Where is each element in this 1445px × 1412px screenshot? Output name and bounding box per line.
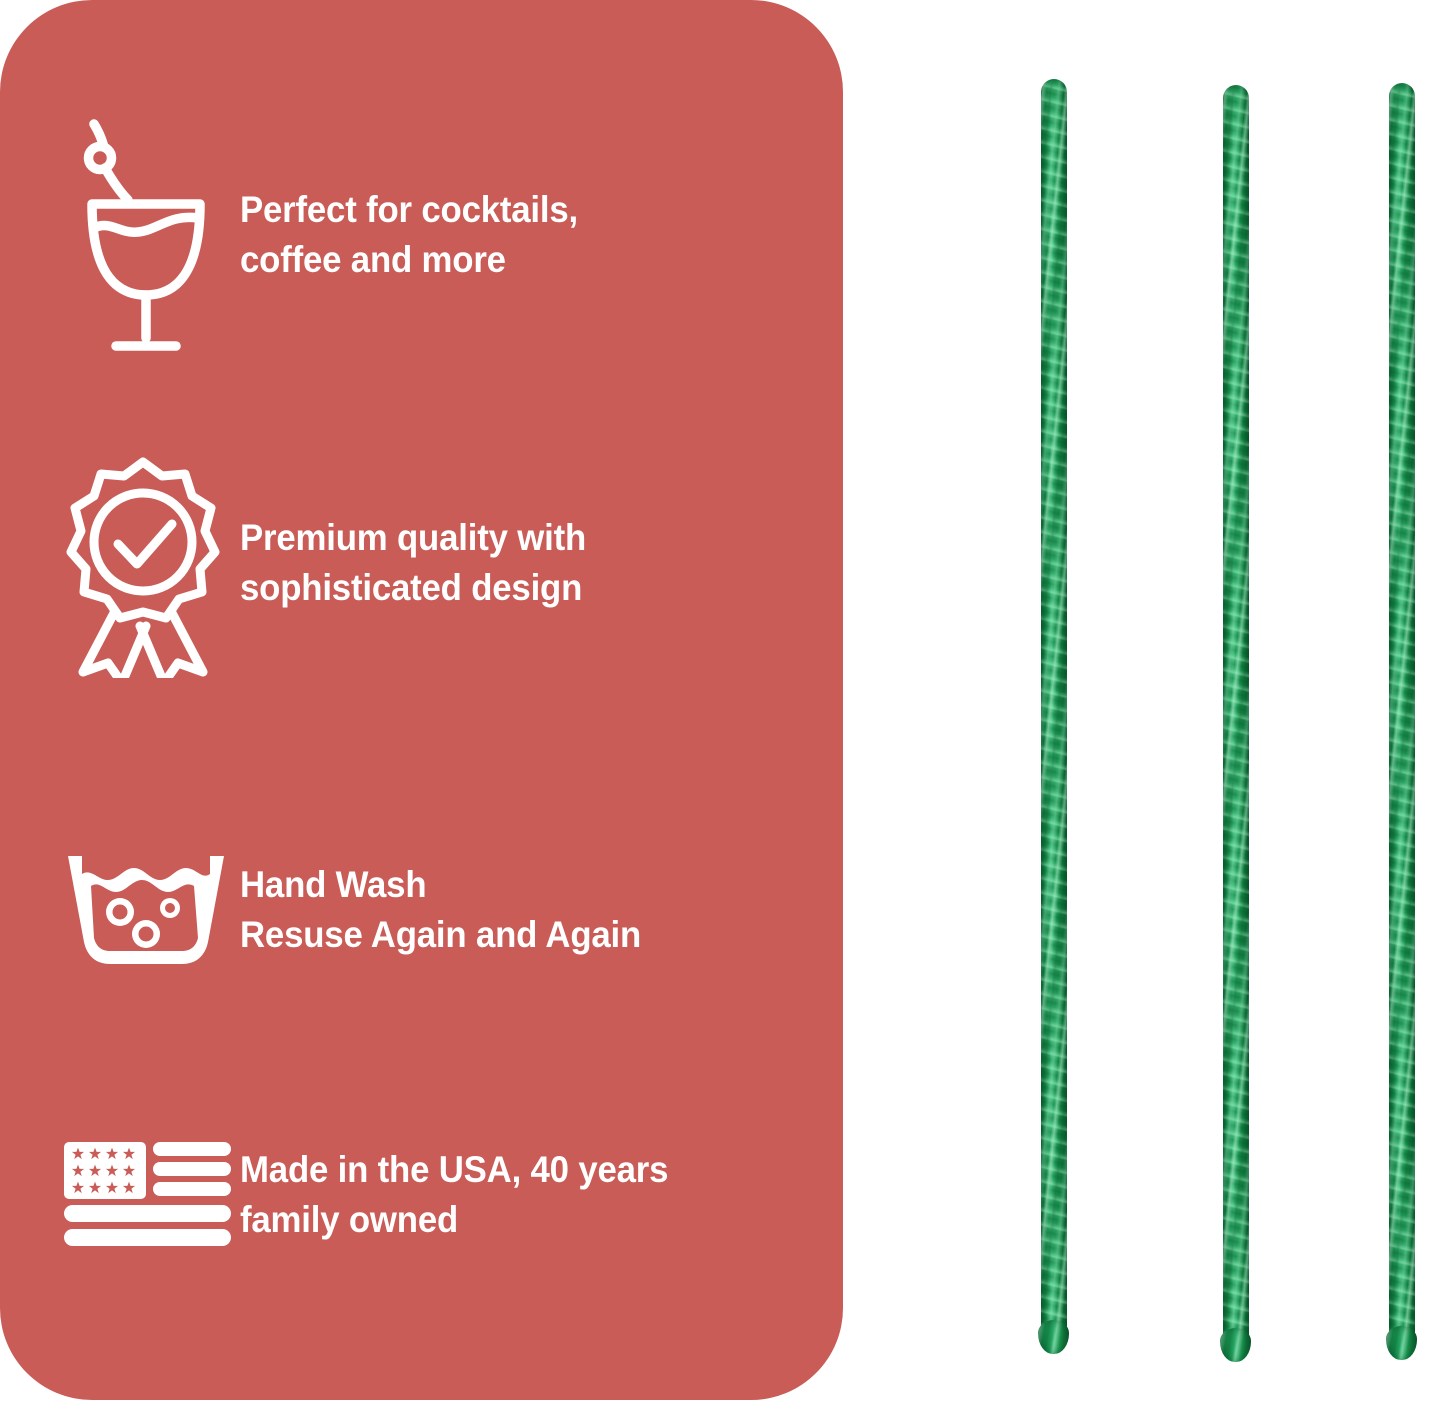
infographic-canvas: Perfect for cocktails, coffee and more xyxy=(0,0,1445,1412)
glitter-straw-1-foot xyxy=(1038,1320,1069,1354)
glitter-straw-1 xyxy=(1041,79,1067,1342)
feature-panel: Perfect for cocktails, coffee and more xyxy=(0,0,843,1400)
feature-row-made-in-usa: Made in the USA, 40 years family owned xyxy=(58,1115,798,1275)
feature-row-cocktails: Perfect for cocktails, coffee and more xyxy=(58,110,798,360)
feature-label-premium-quality: Premium quality with sophisticated desig… xyxy=(240,513,765,614)
glitter-straw-3-foot xyxy=(1386,1326,1417,1360)
usa-flag-icon xyxy=(58,1137,240,1253)
hand-wash-basin-icon xyxy=(58,846,240,974)
glitter-straw-2-foot xyxy=(1220,1328,1251,1362)
cocktail-glass-icon xyxy=(58,110,240,360)
feature-label-hand-wash: Hand Wash Resuse Again and Again xyxy=(240,860,765,961)
feature-label-made-in-usa: Made in the USA, 40 years family owned xyxy=(240,1145,765,1246)
feature-row-hand-wash: Hand Wash Resuse Again and Again xyxy=(58,820,798,1000)
feature-row-premium-quality: Premium quality with sophisticated desig… xyxy=(58,448,798,678)
quality-badge-icon xyxy=(58,448,240,678)
glitter-straw-2 xyxy=(1223,85,1249,1350)
glitter-straw-3 xyxy=(1389,83,1415,1348)
feature-label-cocktails: Perfect for cocktails, coffee and more xyxy=(240,185,765,286)
